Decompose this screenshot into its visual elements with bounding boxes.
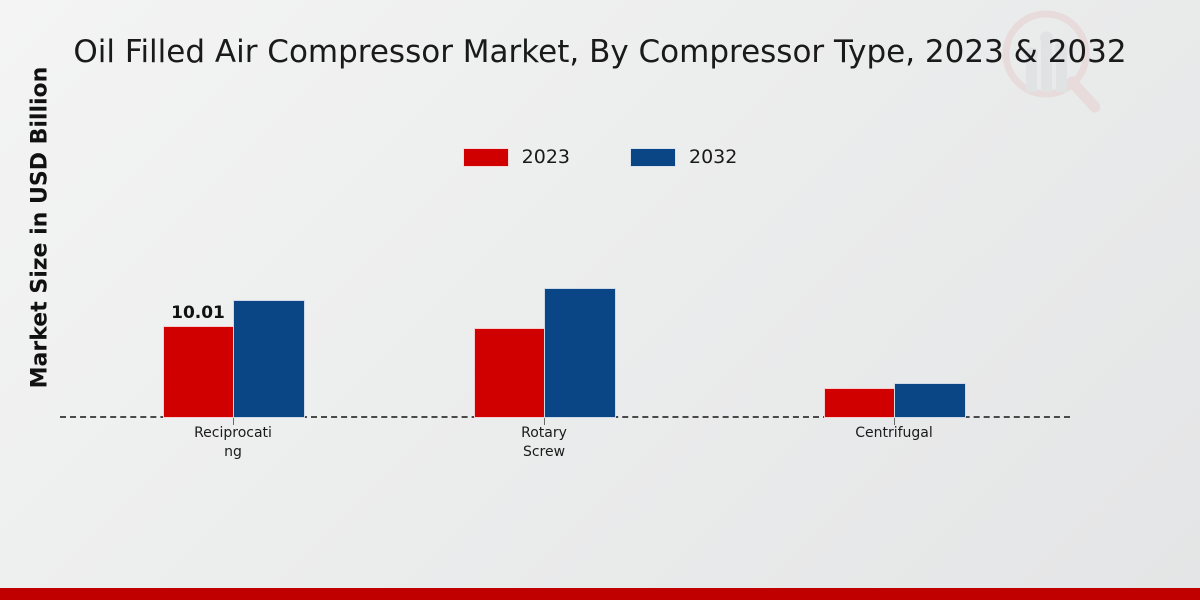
x-axis-label-centrifugal: Centrifugal (834, 424, 954, 443)
legend-label-2023: 2023 (522, 146, 570, 168)
bar-2023-centrifugal[interactable] (824, 388, 896, 418)
bar-2023-reciprocating[interactable] (163, 326, 235, 418)
x-axis-label-reciprocating: Reciprocating (173, 424, 293, 462)
chart-legend: 2023 2032 (0, 146, 1200, 168)
bar-2032-centrifugal[interactable] (894, 383, 966, 418)
x-axis-label-rotary-screw: RotaryScrew (484, 424, 604, 462)
bar-2023-rotary-screw[interactable] (474, 328, 546, 418)
legend-item-2032[interactable]: 2032 (630, 146, 737, 168)
bar-2032-reciprocating[interactable] (233, 300, 305, 418)
legend-swatch-2023 (463, 148, 509, 167)
legend-swatch-2032 (630, 148, 676, 167)
plot-area: 10.01ReciprocatingRotaryScrewCentrifugal (60, 180, 1070, 418)
legend-label-2032: 2032 (689, 146, 737, 168)
bar-2032-rotary-screw[interactable] (544, 288, 616, 418)
footer-accent-bar (0, 588, 1200, 600)
chart-canvas: Oil Filled Air Compressor Market, By Com… (0, 0, 1200, 600)
y-axis-title: Market Size in USD Billion (28, 48, 53, 408)
chart-title: Oil Filled Air Compressor Market, By Com… (0, 34, 1200, 70)
legend-item-2023[interactable]: 2023 (463, 146, 570, 168)
